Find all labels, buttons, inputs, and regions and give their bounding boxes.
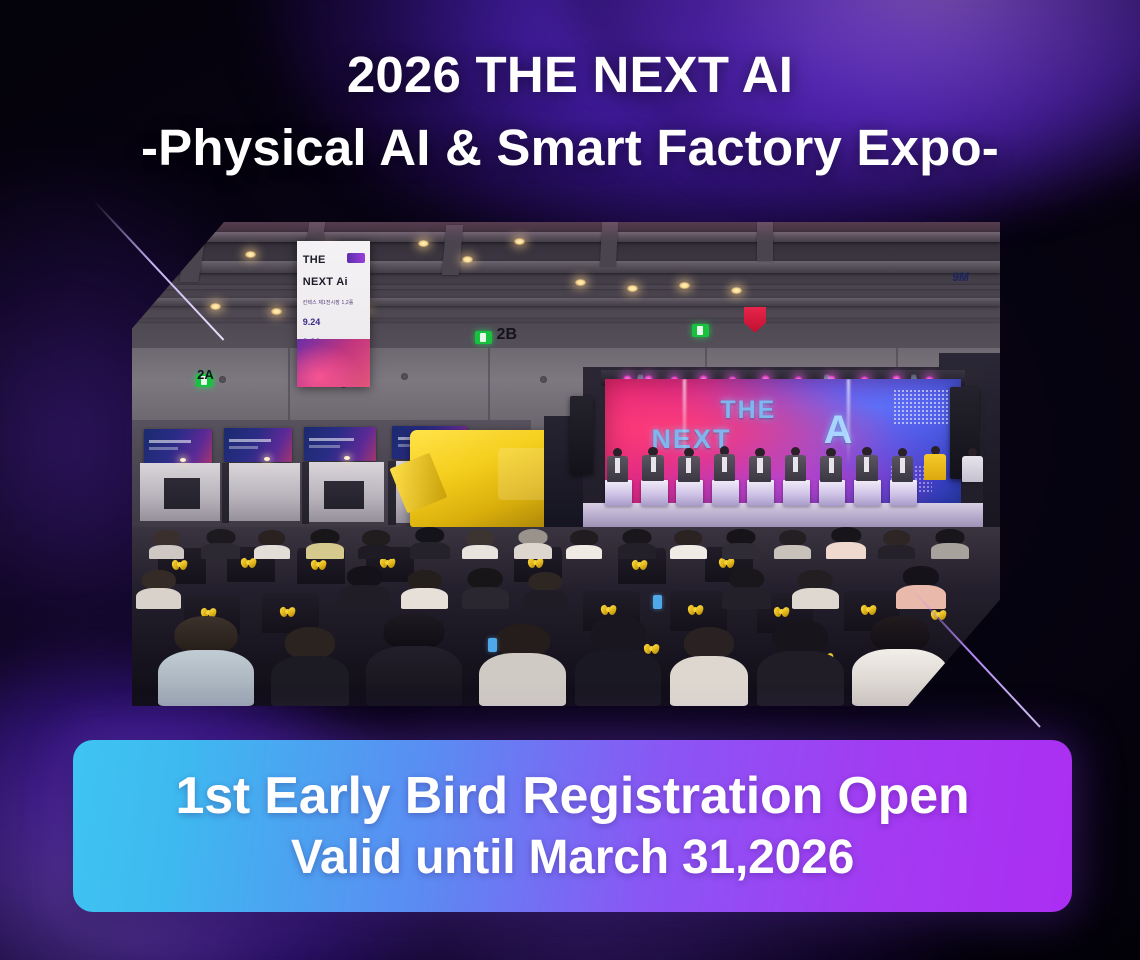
audience-member [722,568,771,609]
cta-subheadline: Valid until March 31,2026 [291,834,854,883]
chair-bow [311,559,326,571]
stage-guest [785,447,807,482]
hall-sign-2b: 2B [497,326,517,344]
emergency-exit-icon [692,324,709,337]
stage-guest [856,447,878,482]
audience-member [896,566,946,609]
led-word-the: THE [720,396,776,425]
hall-sign-2a: 2A [197,367,214,382]
audience-member [792,570,839,609]
audience-member [410,527,450,559]
event-photo: 2A 2B 9M THE NEXT Ai 킨텍스 제1전시장 1,2홀 9.24… [132,222,1000,706]
hanging-event-banner: THE NEXT Ai 킨텍스 제1전시장 1,2홀 9.24 9.26 [297,241,370,386]
audience-member [878,530,914,559]
audience-phone [653,595,662,609]
audience-member [462,568,509,609]
audience-member [306,529,344,559]
audience-member-foreground [366,613,461,706]
poster-title-secondary: -Physical AI & Smart Factory Expo- [0,121,1140,174]
poster-title-primary: 2026 THE NEXT AI [0,48,1140,101]
audience-member [931,529,969,559]
stage-guest [714,446,736,481]
banner-title-line2: NEXT Ai [303,276,348,288]
stage-speaker [570,396,593,473]
banner-title-line1: THE [303,254,326,266]
stage-podium [890,480,917,506]
chair-bow [861,604,876,616]
audience-member [201,529,239,559]
audience-member [136,570,181,609]
banner-date-start: 9.24 [303,317,321,327]
stage-guest [820,448,842,483]
audience-member [826,527,866,559]
stage-guest [642,447,664,482]
chair-bow [774,606,789,618]
poster-title-block: 2026 THE NEXT AI -Physical AI & Smart Fa… [0,48,1140,174]
chair-bow [280,606,295,618]
audience-member-foreground [479,624,566,706]
hall-sign-9m: 9M [952,270,969,284]
cta-headline: 1st Early Bird Registration Open [175,770,969,823]
chair-bow [241,557,256,569]
stage-podium [747,480,774,506]
audience-member [670,530,706,559]
stage-guest [749,448,771,483]
stage-podium [854,480,881,506]
chair-bow [688,604,703,616]
stage-host [924,446,946,481]
banner-accent-chip [347,253,366,263]
chair-bow [528,557,543,569]
stage-podium [783,480,810,506]
audience-member [401,570,448,609]
audience-member-foreground [670,627,748,706]
emergency-exit-icon [475,331,492,344]
stage-guest [607,448,629,483]
banner-artwork [297,339,370,387]
audience-member [340,566,389,607]
audience-member-foreground [575,616,662,706]
chair-bow [632,559,647,571]
stage-host [962,448,984,483]
audience-member [514,529,552,559]
stage-guest [892,448,914,483]
audience-member [358,530,394,559]
led-dot-pattern [893,389,950,424]
stage-guest [678,448,700,483]
audience-seating [132,527,1000,706]
stage-podium [819,480,846,506]
hall-ceiling [132,222,1000,353]
early-bird-registration-banner[interactable]: 1st Early Bird Registration Open Valid u… [73,740,1072,912]
promo-poster: 2026 THE NEXT AI -Physical AI & Smart Fa… [0,0,1140,960]
audience-member-foreground [158,616,253,706]
audience-member-foreground [852,616,947,706]
stage-podium [676,480,703,506]
audience-member [722,529,760,559]
stage-podium [641,480,668,506]
stage-podium [712,480,739,506]
audience-member [774,530,810,559]
audience-member [254,530,290,559]
audience-member-foreground [271,627,349,706]
audience-member [149,530,184,559]
audience-member [566,530,602,559]
audience-member [618,529,656,559]
event-photo-canvas: 2A 2B 9M THE NEXT Ai 킨텍스 제1전시장 1,2홀 9.24… [132,222,1000,706]
chair-bow [601,604,616,616]
stage-podium [605,480,632,506]
audience-member-foreground [757,620,844,706]
audience-member [462,530,498,559]
ceiling-pink-light-wash [132,222,1000,243]
audience-phone [488,638,497,652]
audience-member [523,572,568,611]
banner-subtitle: 킨텍스 제1전시장 1,2홀 [303,299,354,306]
